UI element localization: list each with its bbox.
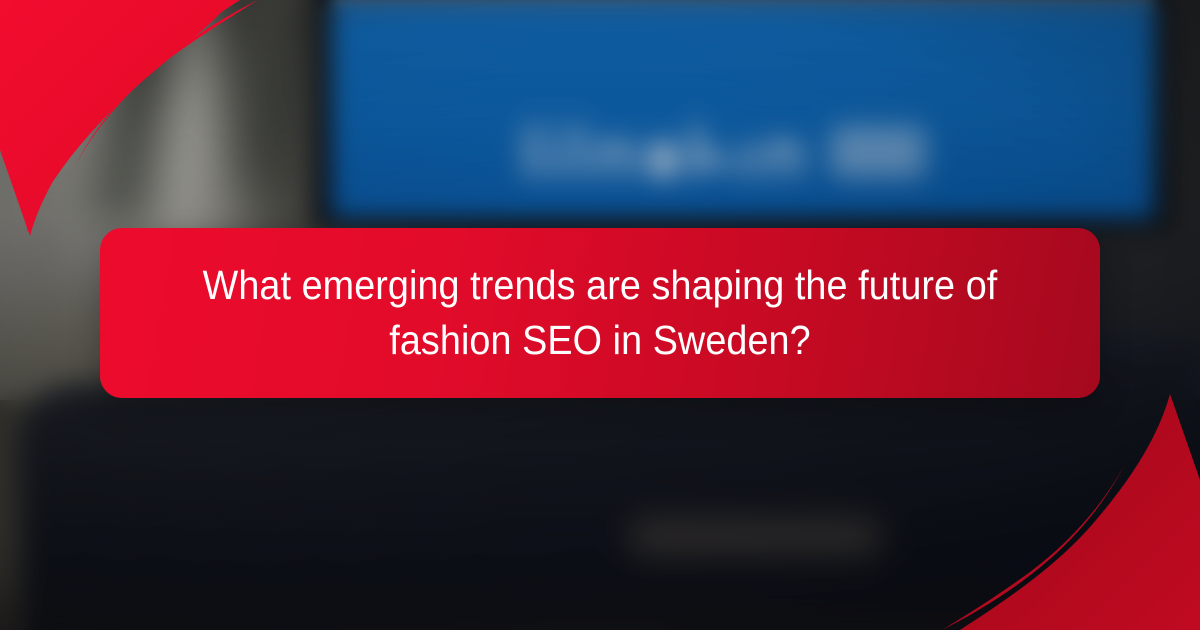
social-card-canvas: What emerging trends are shaping the fut… bbox=[0, 0, 1200, 630]
title-card: What emerging trends are shaping the fut… bbox=[100, 228, 1100, 398]
page-title: What emerging trends are shaping the fut… bbox=[182, 258, 1017, 369]
